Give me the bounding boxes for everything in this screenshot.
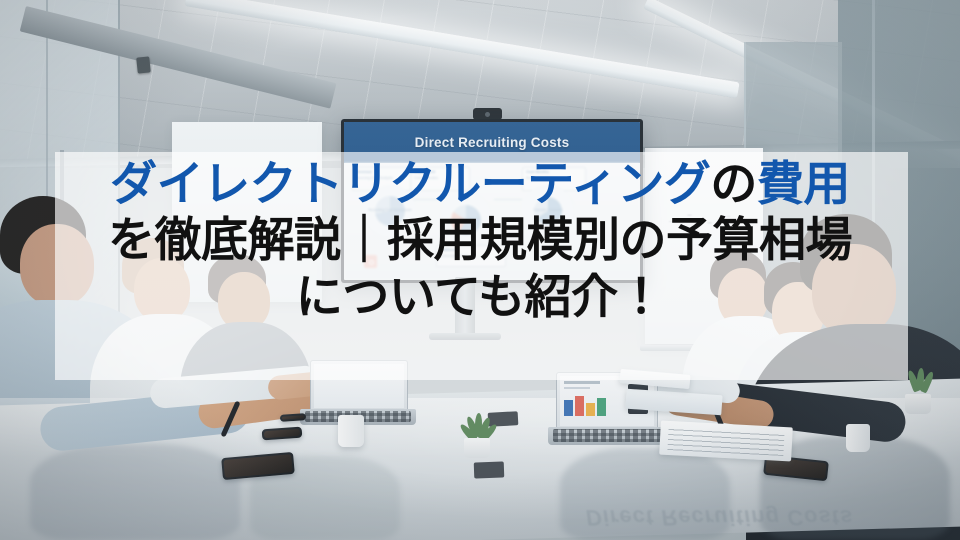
thumbnail-canvas: Direct Recruiting Costs Revenue Sourcing… bbox=[0, 0, 960, 540]
headline-line-2: を徹底解説｜採用規模別の予算相場 bbox=[108, 213, 852, 269]
headline-segment-black: の bbox=[710, 157, 757, 212]
headline-line-3: についても紹介！ bbox=[296, 270, 664, 326]
headline-segment-blue: 費用 bbox=[757, 157, 850, 212]
headline-segment-blue: ダイレクトリクルーティング bbox=[110, 157, 710, 212]
headline-line-1: ダイレクトリクルーティングの費用 bbox=[110, 157, 850, 213]
headline-block: ダイレクトリクルーティングの費用 を徹底解説｜採用規模別の予算相場 についても紹… bbox=[0, 152, 960, 380]
